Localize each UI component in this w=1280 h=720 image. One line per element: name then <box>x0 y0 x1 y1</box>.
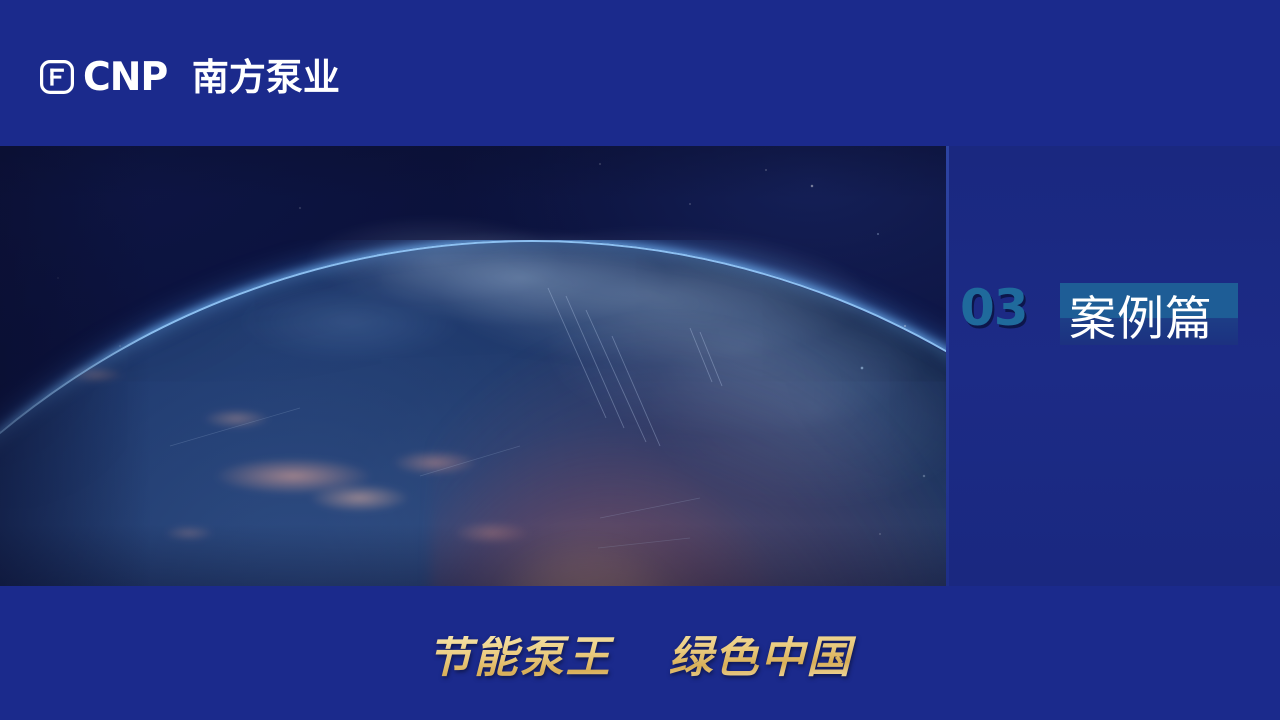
panel-divider <box>946 146 949 586</box>
company-slogan: 节能泵王 绿色中国 <box>0 636 1280 680</box>
slogan-part-1: 节能泵王 <box>428 632 612 683</box>
cnp-logo-mark-icon <box>40 60 74 94</box>
section-panel <box>946 146 1280 586</box>
section-number: 03 <box>960 283 1028 333</box>
image-vignette <box>0 146 946 586</box>
brand-chinese-text: 南方泵业 <box>192 59 340 96</box>
brand-logo[interactable]: CNP 南方泵业 <box>40 52 340 102</box>
slogan-part-2: 绿色中国 <box>668 632 852 683</box>
presentation-slide: CNP 南方泵业 <box>0 0 1280 720</box>
brand-latin-text: CNP <box>83 58 167 97</box>
earth-from-space-photo <box>0 146 946 586</box>
section-title: 案例篇 <box>1069 283 1244 355</box>
